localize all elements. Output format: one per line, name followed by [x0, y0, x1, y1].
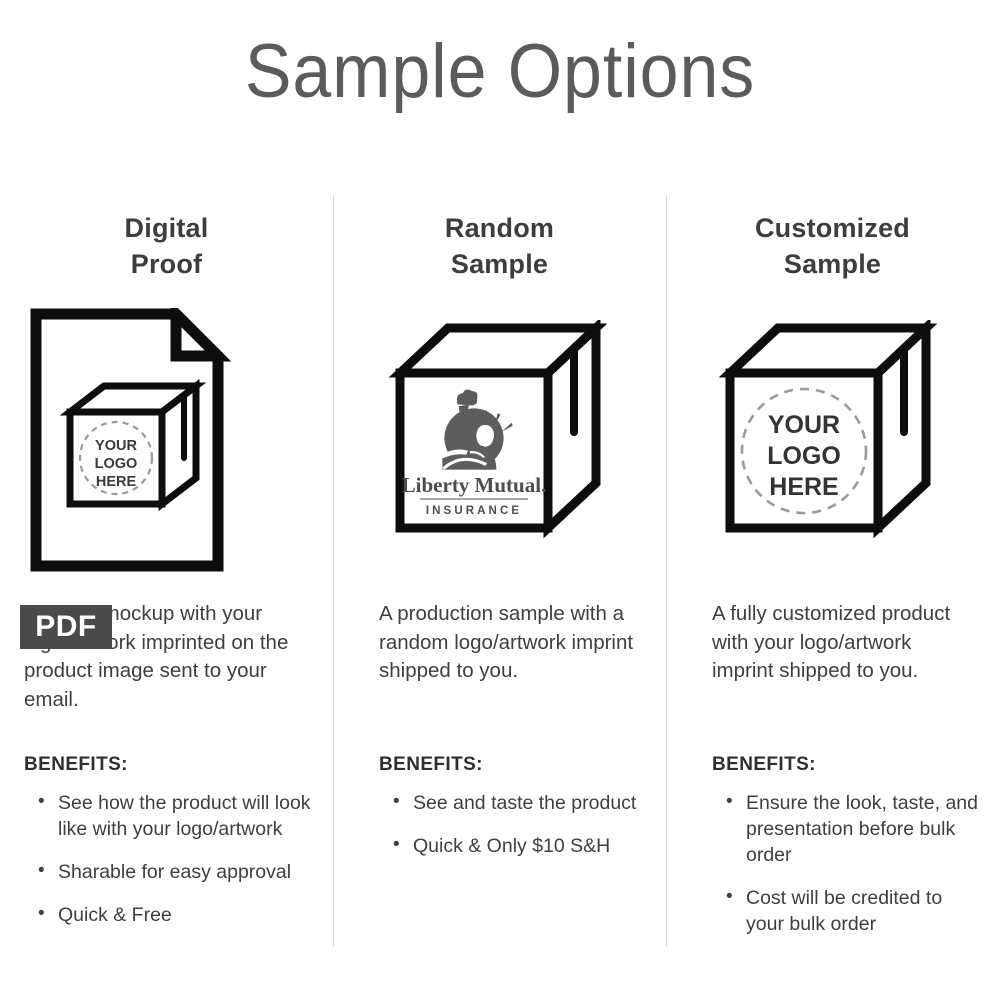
benefits-list-random-sample: See and taste the product Quick & Only $…	[333, 790, 666, 859]
heading-line-2: Sample	[666, 246, 999, 282]
benefits-list-customized-sample: Ensure the look, taste, and presentation…	[666, 790, 999, 937]
option-column-customized-sample: Customized Sample YOUR LOGO HERE A fully…	[666, 196, 999, 956]
illustration-digital-proof: PDF YOUR LOGO HERE	[0, 294, 333, 594]
benefits-label-customized-sample: BENEFITS:	[666, 754, 999, 776]
brand-subtitle: INSURANCE	[426, 505, 522, 517]
option-column-digital-proof: Digital Proof PDF YOUR LOGO H	[0, 196, 333, 956]
document-with-box-icon: YOUR LOGO HERE	[28, 308, 278, 578]
heading-line-2: Proof	[0, 246, 333, 282]
benefit-item: Sharable for easy approval	[38, 859, 315, 885]
options-columns: Digital Proof PDF YOUR LOGO H	[0, 196, 1000, 956]
heading-line-1: Digital	[0, 210, 333, 246]
box-with-logo-placeholder-icon: YOUR LOGO HERE	[716, 320, 946, 545]
heading-line-1: Random	[333, 210, 666, 246]
logo-placeholder-line-3: HERE	[769, 473, 838, 501]
pdf-badge: PDF	[20, 605, 112, 649]
heading-line-2: Sample	[333, 246, 666, 282]
benefit-item: See how the product will look like with …	[38, 790, 315, 842]
illustration-random-sample: Liberty Mutual. INSURANCE	[333, 294, 666, 594]
heading-line-1: Customized	[666, 210, 999, 246]
column-heading-customized-sample: Customized Sample	[666, 210, 999, 282]
logo-placeholder-line-2: LOGO	[767, 442, 841, 470]
page-title: Sample Options	[40, 34, 960, 110]
description-customized-sample: A fully customized product with your log…	[666, 600, 999, 720]
description-random-sample: A production sample with a random logo/a…	[333, 600, 666, 720]
benefit-item: Quick & Only $10 S&H	[393, 833, 648, 859]
logo-placeholder-line-3: HERE	[96, 474, 137, 490]
benefits-label-random-sample: BENEFITS:	[333, 754, 666, 776]
logo-placeholder-line-1: YOUR	[768, 411, 840, 439]
benefit-item: Cost will be credited to your bulk order	[726, 885, 981, 937]
option-column-random-sample: Random Sample	[333, 196, 666, 956]
benefits-label-digital-proof: BENEFITS:	[0, 754, 333, 776]
logo-placeholder-line-2: LOGO	[95, 456, 138, 472]
benefit-item: See and taste the product	[393, 790, 648, 816]
column-heading-digital-proof: Digital Proof	[0, 210, 333, 282]
benefit-item: Ensure the look, taste, and presentation…	[726, 790, 981, 868]
benefits-list-digital-proof: See how the product will look like with …	[0, 790, 333, 928]
box-with-brand-logo-icon: Liberty Mutual. INSURANCE	[386, 320, 616, 545]
illustration-customized-sample: YOUR LOGO HERE	[666, 294, 999, 594]
logo-placeholder-line-1: YOUR	[95, 438, 137, 454]
benefit-item: Quick & Free	[38, 902, 315, 928]
brand-wordmark: Liberty Mutual.	[402, 473, 547, 497]
column-heading-random-sample: Random Sample	[333, 210, 666, 282]
